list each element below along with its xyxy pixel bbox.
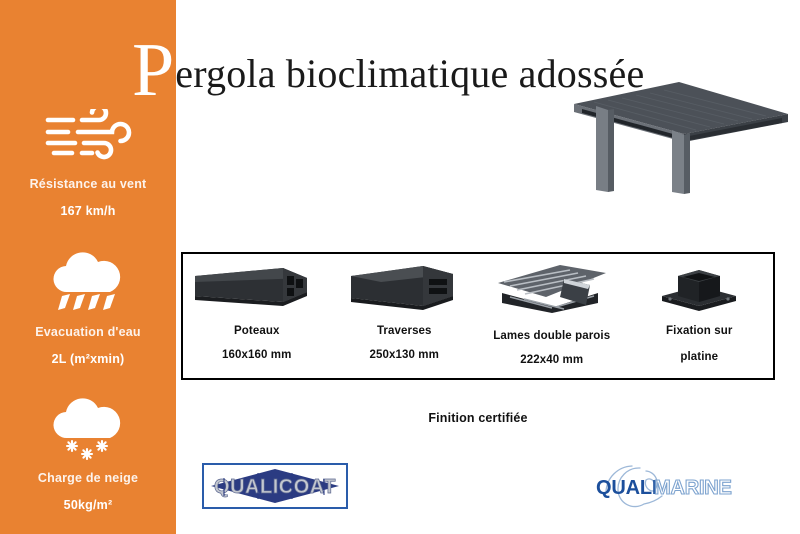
qualimarine-logo: QUALI MARINE bbox=[588, 462, 748, 510]
pergola-product-sheet: Résistance au vent 167 km/h Evacuation d… bbox=[0, 0, 800, 534]
product-name: Traverses bbox=[377, 325, 432, 338]
svg-text:QUALI: QUALI bbox=[596, 477, 657, 499]
spec-value-wind: 167 km/h bbox=[0, 205, 176, 219]
spec-block-wind: Résistance au vent 167 km/h bbox=[0, 104, 176, 219]
product-cell-fixation: Fixation sur platine bbox=[626, 254, 774, 378]
pergola-3d-render bbox=[560, 78, 792, 196]
spec-block-snow: Charge de neige 50kg/m² bbox=[0, 398, 176, 513]
product-cell-lames: Lames double parois 222x40 mm bbox=[478, 254, 626, 378]
title-drop-cap: P bbox=[132, 32, 174, 108]
double-wall-louvre-blades-icon bbox=[478, 260, 626, 316]
product-components-box: Poteaux 160x160 mm Traverses 250x130 bbox=[181, 252, 775, 380]
product-name: Poteaux bbox=[234, 325, 279, 338]
svg-text:MARINE: MARINE bbox=[654, 477, 732, 499]
spec-label-snow: Charge de neige bbox=[0, 472, 176, 486]
product-dimension: 160x160 mm bbox=[222, 349, 291, 362]
product-dimension: platine bbox=[680, 351, 718, 364]
aluminium-beam-profile-icon bbox=[331, 260, 479, 316]
product-cell-traverses: Traverses 250x130 mm bbox=[331, 254, 479, 378]
qualicoat-logo: QUALICOAT bbox=[202, 463, 348, 509]
spec-label-wind: Résistance au vent bbox=[0, 178, 176, 192]
product-dimension: 222x40 mm bbox=[520, 354, 583, 367]
rain-cloud-icon bbox=[0, 252, 176, 314]
spec-value-rain: 2L (m²xmin) bbox=[0, 353, 176, 367]
snow-cloud-icon bbox=[0, 398, 176, 460]
finition-certifiee-heading: Finition certifiée bbox=[181, 411, 775, 425]
spec-block-rain: Evacuation d'eau 2L (m²xmin) bbox=[0, 252, 176, 367]
product-dimension: 250x130 mm bbox=[370, 349, 439, 362]
product-name: Lames double parois bbox=[493, 330, 610, 343]
spec-label-rain: Evacuation d'eau bbox=[0, 326, 176, 340]
base-plate-fixing-icon bbox=[626, 260, 774, 316]
product-name: Fixation sur bbox=[666, 325, 732, 338]
svg-text:QUALICOAT: QUALICOAT bbox=[214, 476, 336, 498]
product-cell-poteaux: Poteaux 160x160 mm bbox=[183, 254, 331, 378]
spec-value-snow: 50kg/m² bbox=[0, 499, 176, 513]
aluminium-post-profile-icon bbox=[183, 260, 331, 316]
wind-icon bbox=[0, 104, 176, 166]
